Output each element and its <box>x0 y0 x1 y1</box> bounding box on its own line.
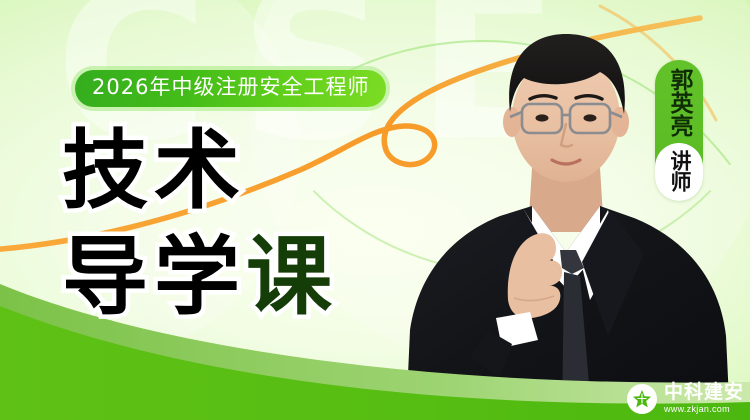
course-subject-badge: 2026年中级注册安全工程师 <box>75 70 386 107</box>
zkjan-star-icon <box>627 384 657 414</box>
brand-logo-text: 中科建安 www.zkjan.com <box>664 383 744 414</box>
instructor-name: 郭英亮 <box>666 60 692 143</box>
brand-name: 中科建安 <box>664 383 744 402</box>
instructor-name-tag: 郭英亮 讲师 <box>655 60 703 201</box>
title-line-1: 技术 <box>62 128 338 216</box>
title-line-2-main: 导学 <box>62 227 246 327</box>
instructor-role: 讲师 <box>667 150 691 192</box>
brand-logo[interactable]: 中科建安 www.zkjan.com <box>627 383 744 414</box>
title-line-2: 导学课 <box>62 234 338 322</box>
poster-title: 技术 导学课 <box>62 128 338 321</box>
instructor-role-pill: 讲师 <box>655 143 703 201</box>
course-poster: CSE <box>0 0 750 420</box>
title-line-2-accent: 课 <box>246 227 338 327</box>
brand-url: www.zkjan.com <box>664 405 744 414</box>
